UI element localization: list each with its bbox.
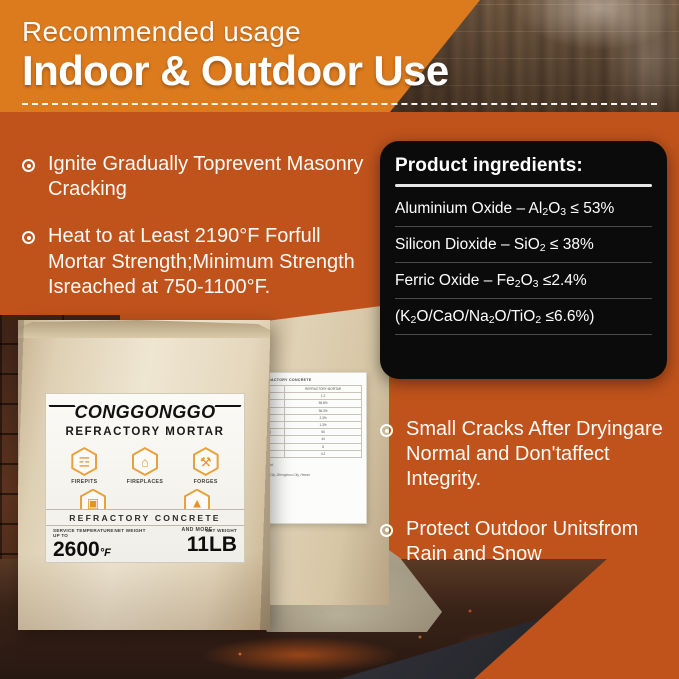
use-case-forges: ⚒ FORGES: [177, 447, 235, 486]
list-item-label: Small Cracks After Dryingare Normal and …: [406, 417, 670, 493]
ingredient-formula: SiO2: [514, 236, 546, 253]
list-item-label: Ignite Gradually Toprevent Masonry Crack…: [48, 152, 374, 202]
net-weight-value: 11LB: [176, 534, 237, 555]
right-feature-list: Small Cracks After Dryingare Normal and …: [380, 417, 670, 591]
label-category-band: REFRACTORY CONCRETE: [46, 509, 244, 526]
bag-spec-sheet: REFRACTORY CONCRETE REFRACTORY MORTAR 1.…: [255, 372, 367, 524]
ingredient-dash: –: [501, 236, 510, 253]
header-banner: Recommended usage Indoor & Outdoor Use: [0, 0, 679, 112]
use-case-label: FORGES: [177, 479, 235, 486]
header-eyebrow: Recommended usage: [22, 18, 449, 46]
list-item: Protect Outdoor Unitsfrom Rain and Snow: [380, 517, 670, 567]
product-ingredients-panel: Product ingredients: Aluminium Oxide – A…: [380, 141, 667, 379]
net-weight-caption-mid: NET WEIGHT: [114, 528, 175, 560]
ingredient-row: Aluminium Oxide – Al2O3 ≤ 53%: [395, 191, 652, 227]
ingredient-row: Silicon Dioxide – SiO2 ≤ 38%: [395, 227, 652, 263]
list-item: Heat to at Least 2190°F Forfull Mortar S…: [22, 224, 374, 300]
ingredient-limit: ≤2.4%: [543, 272, 587, 289]
table-row: 8: [261, 443, 362, 450]
spec-row-value: 56.8%: [285, 400, 362, 407]
net-weight-spec: NET WEIGHT 11LB: [176, 528, 237, 560]
ingredient-formula: Fe2O3: [497, 272, 539, 289]
service-temperature-spec: SERVICE TEMPERATURE UP TO 2600°F: [53, 528, 114, 560]
heating-stove-glyph: ▣: [87, 497, 99, 510]
product-type: REFRACTORY MORTAR: [46, 426, 244, 438]
pizza-oven-glyph: ▲: [191, 497, 204, 510]
spec-row-value: 44: [285, 436, 362, 443]
ingredients-title-underline: [395, 184, 652, 187]
spec-row-value: 8: [285, 443, 362, 450]
net-weight-caption-left: NET WEIGHT: [114, 528, 175, 533]
ingredient-row-minor-oxides: (K2O/CaO/Na2O/TiO2 ≤6.6%): [395, 299, 652, 335]
forge-icon: ⚒: [193, 447, 219, 476]
header-text-group: Recommended usage Indoor & Outdoor Use: [22, 18, 449, 92]
ingredient-dash: –: [484, 272, 493, 289]
table-row: (MPa)60: [261, 429, 362, 436]
bullet-dot-icon: [22, 159, 35, 172]
fireplace-glyph: ⌂: [141, 455, 149, 468]
spec-col-header: REFRACTORY MORTAR: [285, 386, 362, 393]
use-case-fireplaces: ⌂ FIREPLACES: [116, 447, 174, 486]
table-row: O₂36.3%: [261, 407, 362, 414]
list-item: Ignite Gradually Toprevent Masonry Crack…: [22, 152, 374, 202]
forge-glyph: ⚒: [200, 455, 212, 468]
product-label: CONGGONGGO REFRACTORY MORTAR ☲ FIREPITS …: [45, 393, 245, 563]
table-row: Pa)44: [261, 436, 362, 443]
service-temp-unit: °F: [100, 547, 111, 559]
ingredient-formula: Al2O3: [529, 200, 567, 217]
use-case-firepits: ☲ FIREPITS: [55, 447, 113, 486]
table-header-row: REFRACTORY MORTAR: [261, 386, 362, 393]
spec-sheet-table: REFRACTORY MORTAR 1.2 io56.8% O₂36.3% O₃…: [260, 385, 362, 458]
fireplace-icon: ⌂: [132, 447, 158, 476]
ingredient-row: Ferric Oxide – Fe2O3 ≤2.4%: [395, 263, 652, 299]
ingredient-name: Ferric Oxide: [395, 272, 479, 289]
spec-sheet-footer-line-1: y Co.,Ltd.: [260, 463, 362, 468]
ingredient-name: Silicon Dioxide: [395, 236, 497, 253]
page-title: Indoor & Outdoor Use: [22, 50, 449, 92]
spec-row-value: 4.2: [285, 450, 362, 457]
table-row: O₃2.3%: [261, 414, 362, 421]
table-row: 4.2: [261, 450, 362, 457]
firepit-glyph: ☲: [79, 455, 91, 468]
spec-row-value: 1.2: [285, 393, 362, 400]
left-feature-list: Ignite Gradually Toprevent Masonry Crack…: [22, 152, 374, 322]
brand-name: CONGGONGGO: [74, 403, 215, 421]
spec-sheet-footer-line-2: Bowei City, Zhengzhou City, Henan: [260, 473, 362, 478]
header-divider: [22, 103, 657, 105]
spec-row-value: 1.3%: [285, 421, 362, 428]
service-temp-value: 2600°F: [53, 539, 114, 560]
infographic-canvas: Recommended usage Indoor & Outdoor Use I…: [0, 0, 679, 679]
ingredient-limit: ≤ 38%: [550, 236, 594, 253]
bullet-dot-icon: [380, 524, 393, 537]
list-item-label: Heat to at Least 2190°F Forfull Mortar S…: [48, 224, 374, 300]
use-case-icons-row-1: ☲ FIREPITS ⌂ FIREPLACES ⚒ FORGES: [46, 447, 244, 486]
table-row: CaO1.3%: [261, 421, 362, 428]
list-item: Small Cracks After Dryingare Normal and …: [380, 417, 670, 493]
ingredient-dash: –: [516, 200, 525, 217]
ingredient-name: Aluminium Oxide: [395, 200, 512, 217]
label-spec-row: SERVICE TEMPERATURE UP TO 2600°F NET WEI…: [46, 528, 244, 560]
spec-row-value: 36.3%: [285, 407, 362, 414]
firepit-icon: ☲: [71, 447, 97, 476]
brand-lockup: CONGGONGGO: [46, 403, 244, 423]
bullet-dot-icon: [22, 231, 35, 244]
product-bag-front: CONGGONGGO REFRACTORY MORTAR ☲ FIREPITS …: [18, 320, 270, 630]
table-row: 1.2: [261, 393, 362, 400]
ingredient-limit: ≤ 53%: [570, 200, 614, 217]
use-case-label: FIREPLACES: [116, 479, 174, 486]
spec-row-value: 60: [285, 429, 362, 436]
ingredients-title: Product ingredients:: [395, 155, 652, 177]
spec-row-value: 2.3%: [285, 414, 362, 421]
list-item-label: Protect Outdoor Unitsfrom Rain and Snow: [406, 517, 670, 567]
bullet-dot-icon: [380, 424, 393, 437]
spec-sheet-heading: REFRACTORY CONCRETE: [260, 378, 362, 382]
use-case-label: FIREPITS: [55, 479, 113, 486]
service-temp-number: 2600: [53, 538, 100, 561]
service-temp-caption: SERVICE TEMPERATURE UP TO: [53, 528, 114, 538]
table-row: io56.8%: [261, 400, 362, 407]
